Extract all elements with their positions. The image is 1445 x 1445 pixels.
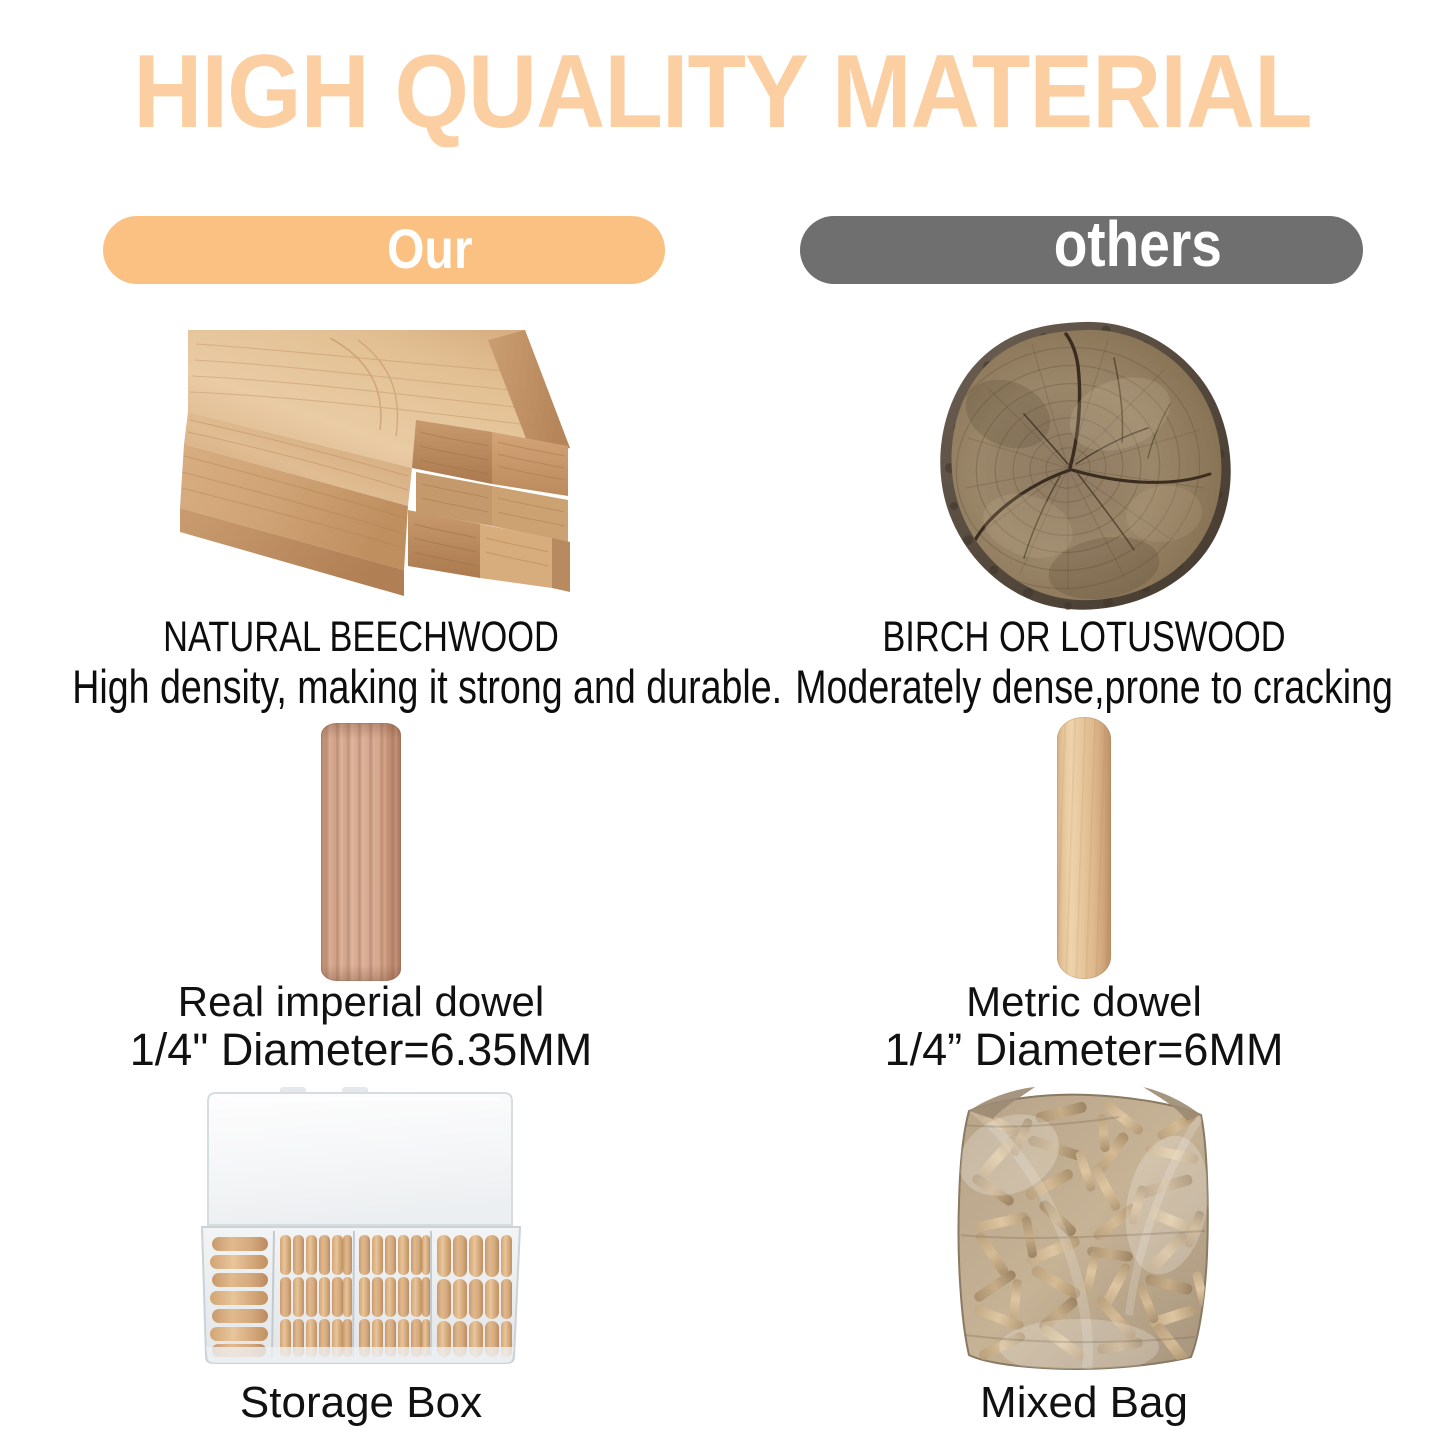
smooth-metric-dowel-image: [723, 705, 1445, 1005]
packaging-name-others: Mixed Bag: [723, 1380, 1445, 1426]
dowel-name-ours: Real imperial dowel: [0, 980, 722, 1024]
fluted-dowel-body: [321, 723, 401, 981]
fluted-imperial-dowel-image: [0, 705, 722, 1005]
column-header-others: others: [800, 216, 1363, 284]
column-header-ours: Our: [103, 216, 665, 284]
column-others: BIRCH OR LOTUSWOOD Moderately dense,pron…: [723, 300, 1445, 1445]
wood-type-description-others: Moderately dense,prone to cracking: [795, 663, 1373, 711]
storage-box-image: [196, 1085, 526, 1375]
beechwood-lumber-bundle-image: [180, 320, 570, 605]
column-header-others-label: others: [1053, 216, 1221, 272]
column-ours: NATURAL BEECHWOOD High density, making i…: [0, 300, 722, 1445]
smooth-dowel-body: [1057, 717, 1111, 979]
wood-type-description-ours: High density, making it strong and durab…: [72, 663, 650, 711]
column-header-ours-label: Our: [387, 221, 473, 277]
wood-type-name-ours: NATURAL BEECHWOOD: [72, 615, 650, 659]
page-title: HIGH QUALITY MATERIAL: [58, 40, 1387, 144]
mixed-bag-image: [939, 1085, 1229, 1375]
infographic-page: HIGH QUALITY MATERIAL Our others: [0, 0, 1445, 1445]
dowel-name-others: Metric dowel: [723, 980, 1445, 1024]
packaging-name-ours: Storage Box: [0, 1380, 722, 1426]
wood-type-name-others: BIRCH OR LOTUSWOOD: [795, 615, 1373, 659]
log-cross-section-image: [928, 318, 1248, 618]
dowel-size-ours: 1/4" Diameter=6.35MM: [0, 1027, 722, 1073]
dowel-size-others: 1/4” Diameter=6MM: [723, 1027, 1445, 1073]
